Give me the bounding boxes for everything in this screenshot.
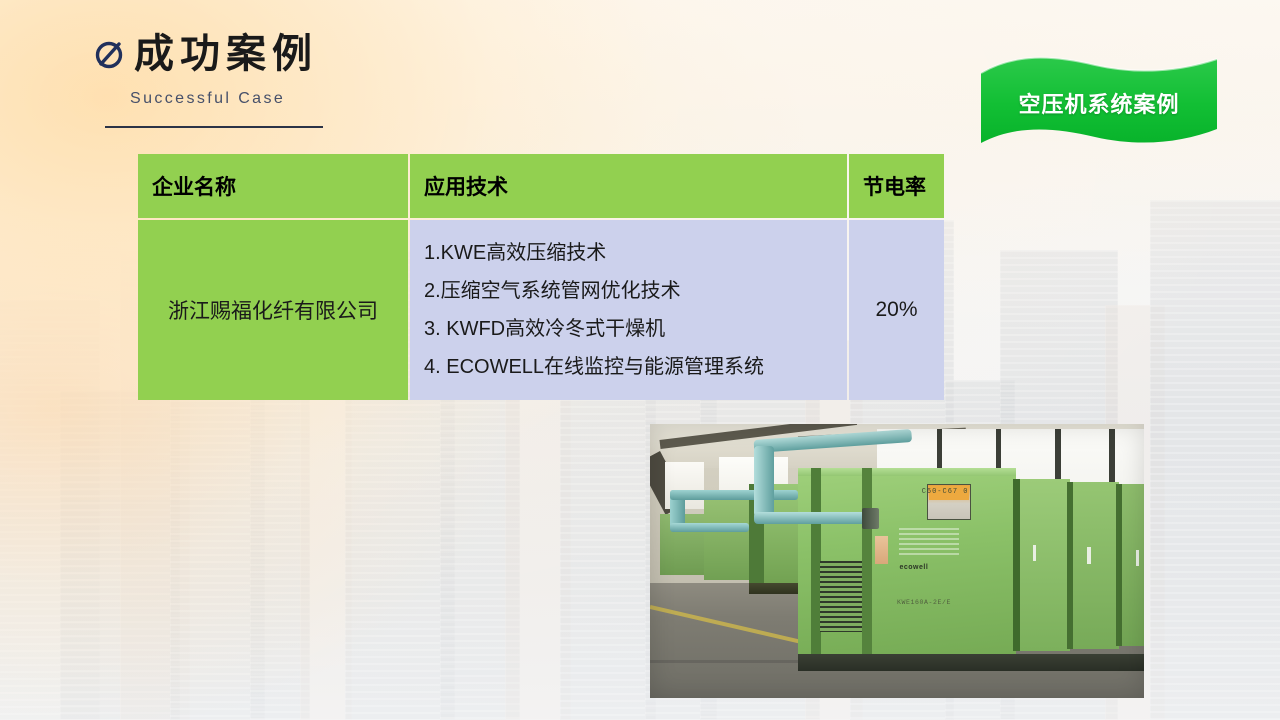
cell-technology-list: 1.KWE高效压缩技术 2.压缩空气系统管网优化技术 3. KWFD高效冷冬式干…	[410, 220, 847, 400]
cell-saving-rate: 20%	[849, 220, 944, 400]
table-header-row: 企业名称 应用技术 节电率	[138, 154, 944, 218]
title-underline	[105, 126, 323, 128]
slide-root: 成功案例 Successful Case 空压机系统案例 企业名称	[0, 0, 1280, 720]
technology-item: 3. KWFD高效冷冬式干燥机	[424, 310, 847, 348]
table-header-technology: 应用技术	[410, 154, 847, 218]
section-banner: 空压机系统案例	[975, 55, 1223, 147]
table-row: 浙江赐福化纤有限公司 1.KWE高效压缩技术 2.压缩空气系统管网优化技术 3.…	[138, 220, 944, 400]
page-title-block: 成功案例 Successful Case	[92, 34, 318, 108]
page-title: 成功案例	[134, 34, 318, 74]
technology-item: 1.KWE高效压缩技术	[424, 234, 847, 272]
technology-item: 2.压缩空气系统管网优化技术	[424, 272, 847, 310]
page-subtitle: Successful Case	[130, 90, 318, 108]
table-header-company: 企业名称	[138, 154, 408, 218]
table-header-saving-rate: 节电率	[849, 154, 944, 218]
technology-item: 4. ECOWELL在线监控与能源管理系统	[424, 348, 847, 386]
section-banner-label: 空压机系统案例	[975, 55, 1223, 147]
cell-company-name: 浙江赐福化纤有限公司	[138, 220, 408, 400]
null-slash-icon	[92, 37, 126, 71]
case-table: 企业名称 应用技术 节电率 浙江赐福化纤有限公司 1.KWE高效压缩技术 2.压…	[136, 152, 946, 402]
air-compressor-room-photo: C60-C67 0 ecowell KWE160A-2E/E	[650, 424, 1144, 698]
